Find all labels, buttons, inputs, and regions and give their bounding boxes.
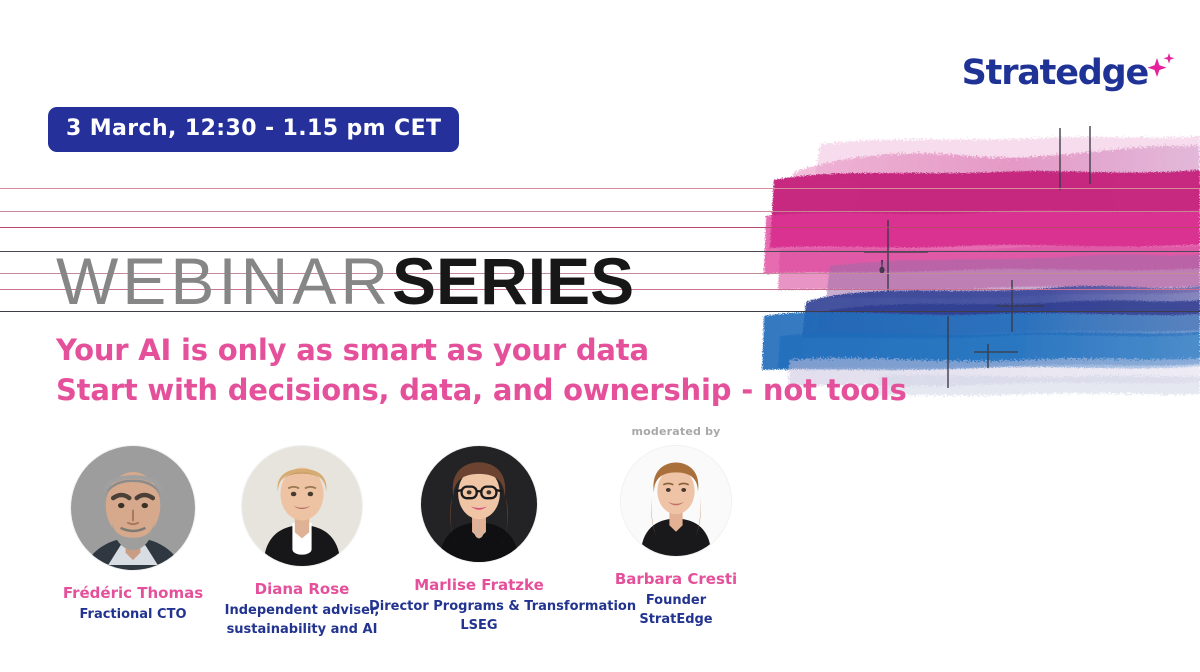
headline-series: SERIES bbox=[392, 244, 634, 318]
label-spacer bbox=[369, 424, 589, 440]
moderated-by-label: moderated by bbox=[576, 424, 776, 440]
avatar bbox=[242, 446, 362, 566]
speaker-name: Barbara Cresti bbox=[576, 570, 776, 589]
logo-wordmark: Stratedge bbox=[962, 56, 1148, 91]
stratedge-logo[interactable]: Stratedge bbox=[962, 56, 1178, 91]
subtitle: Your AI is only as smart as your data St… bbox=[56, 330, 907, 410]
speaker-card: Frédéric ThomasFractional CTO bbox=[38, 424, 228, 625]
speaker-role-line: Director Programs & Transformation bbox=[369, 598, 589, 617]
sparkle-icon bbox=[1144, 50, 1178, 84]
speaker-role: FounderStratEdge bbox=[576, 592, 776, 630]
speaker-card: moderated by Barbara CrestiFounderStratE… bbox=[576, 424, 776, 629]
speaker-role-line: StratEdge bbox=[576, 611, 776, 630]
avatar bbox=[421, 446, 537, 562]
speaker-card: Marlise FratzkeDirector Programs & Trans… bbox=[369, 424, 589, 635]
speaker-name: Marlise Fratzke bbox=[369, 576, 589, 595]
speaker-role-line: Founder bbox=[576, 592, 776, 611]
subtitle-line-2: Start with decisions, data, and ownershi… bbox=[56, 370, 907, 410]
speaker-role: Fractional CTO bbox=[38, 606, 228, 625]
speaker-role-line: LSEG bbox=[369, 617, 589, 636]
headline-webinar: WEBINAR bbox=[56, 244, 392, 318]
date-badge: 3 March, 12:30 - 1.15 pm CET bbox=[48, 107, 459, 152]
label-spacer bbox=[38, 424, 228, 440]
speaker-role: Director Programs & TransformationLSEG bbox=[369, 598, 589, 636]
page-title: WEBINARSERIES bbox=[56, 248, 634, 314]
avatar bbox=[621, 446, 731, 556]
speakers-row: Frédéric ThomasFractional CTO Diana Rose… bbox=[0, 424, 790, 654]
speaker-role-line: Fractional CTO bbox=[38, 606, 228, 625]
speaker-name: Frédéric Thomas bbox=[38, 584, 228, 603]
avatar bbox=[71, 446, 195, 570]
subtitle-line-1: Your AI is only as smart as your data bbox=[56, 330, 907, 370]
